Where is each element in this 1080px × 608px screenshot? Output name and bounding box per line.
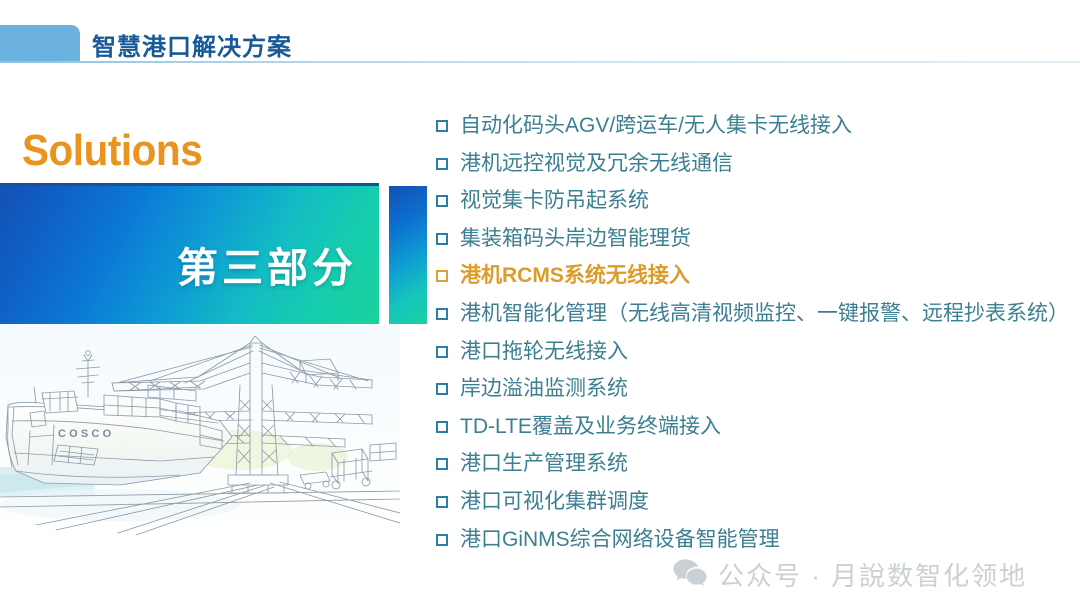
watermark-label: 公众号 · 月說数智化领地 bbox=[718, 556, 1027, 593]
square-bullet-icon bbox=[436, 233, 448, 245]
square-bullet-icon bbox=[436, 421, 448, 433]
page-title: 智慧港口解决方案 bbox=[92, 27, 292, 62]
square-bullet-icon bbox=[436, 458, 448, 470]
list-item-label: 自动化码头AGV/跨运车/无人集卡无线接入 bbox=[460, 112, 852, 140]
square-bullet-icon bbox=[436, 270, 448, 282]
list-item-highlighted[interactable]: 港机RCMS系统无线接入 bbox=[436, 262, 1076, 300]
list-item-label: 港机RCMS系统无线接入 bbox=[460, 262, 690, 290]
list-item-label: 港机智能化管理（无线高清视频监控、一键报警、远程抄表系统） bbox=[460, 300, 1069, 328]
header-tab-block bbox=[0, 25, 80, 58]
slide-root: 智慧港口解决方案 Solutions 第三部分 bbox=[0, 0, 1080, 608]
list-item-label: 集装箱码头岸边智能理货 bbox=[460, 225, 691, 253]
square-bullet-icon bbox=[436, 346, 448, 358]
section-title-solutions: Solutions bbox=[22, 126, 202, 176]
list-item-label: 港口生产管理系统 bbox=[460, 450, 628, 478]
list-item[interactable]: 岸边溢油监测系统 bbox=[436, 375, 1076, 413]
list-item[interactable]: 港口拖轮无线接入 bbox=[436, 338, 1076, 376]
watermark: 公众号 · 月說数智化领地 bbox=[672, 556, 1027, 593]
header-divider bbox=[0, 61, 1080, 63]
list-item[interactable]: 港机远控视觉及冗余无线通信 bbox=[436, 150, 1076, 188]
list-item[interactable]: 视觉集卡防吊起系统 bbox=[436, 187, 1076, 225]
list-item-label: 港口拖轮无线接入 bbox=[460, 338, 628, 366]
list-item[interactable]: 自动化码头AGV/跨运车/无人集卡无线接入 bbox=[436, 112, 1076, 150]
list-item-label: 港口GiNMS综合网络设备智能管理 bbox=[460, 526, 780, 554]
svg-text:COSCO: COSCO bbox=[58, 428, 114, 440]
square-bullet-icon bbox=[436, 383, 448, 395]
list-item-label: 视觉集卡防吊起系统 bbox=[460, 187, 649, 215]
wechat-icon bbox=[672, 557, 708, 592]
port-container-ship-sketch: COSCO bbox=[0, 325, 400, 540]
list-item-label: 岸边溢油监测系统 bbox=[460, 375, 628, 403]
list-item-label: TD-LTE覆盖及业务终端接入 bbox=[460, 413, 721, 441]
list-item[interactable]: TD-LTE覆盖及业务终端接入 bbox=[436, 413, 1076, 451]
section-banner: 第三部分 bbox=[0, 183, 379, 324]
square-bullet-icon bbox=[436, 496, 448, 508]
list-item[interactable]: 港口生产管理系统 bbox=[436, 450, 1076, 488]
list-item-label: 港机远控视觉及冗余无线通信 bbox=[460, 150, 733, 178]
square-bullet-icon bbox=[436, 195, 448, 207]
list-item[interactable]: 集装箱码头岸边智能理货 bbox=[436, 225, 1076, 263]
list-item-label: 港口可视化集群调度 bbox=[460, 488, 649, 516]
square-bullet-icon bbox=[436, 308, 448, 320]
list-item[interactable]: 港机智能化管理（无线高清视频监控、一键报警、远程抄表系统） bbox=[436, 300, 1076, 338]
solutions-bullet-list: 自动化码头AGV/跨运车/无人集卡无线接入 港机远控视觉及冗余无线通信 视觉集卡… bbox=[436, 112, 1076, 563]
square-bullet-icon bbox=[436, 158, 448, 170]
square-bullet-icon bbox=[436, 120, 448, 132]
square-bullet-icon bbox=[436, 534, 448, 546]
section-banner-accent-strip bbox=[389, 186, 427, 324]
list-item[interactable]: 港口可视化集群调度 bbox=[436, 488, 1076, 526]
section-banner-label: 第三部分 bbox=[177, 234, 357, 294]
